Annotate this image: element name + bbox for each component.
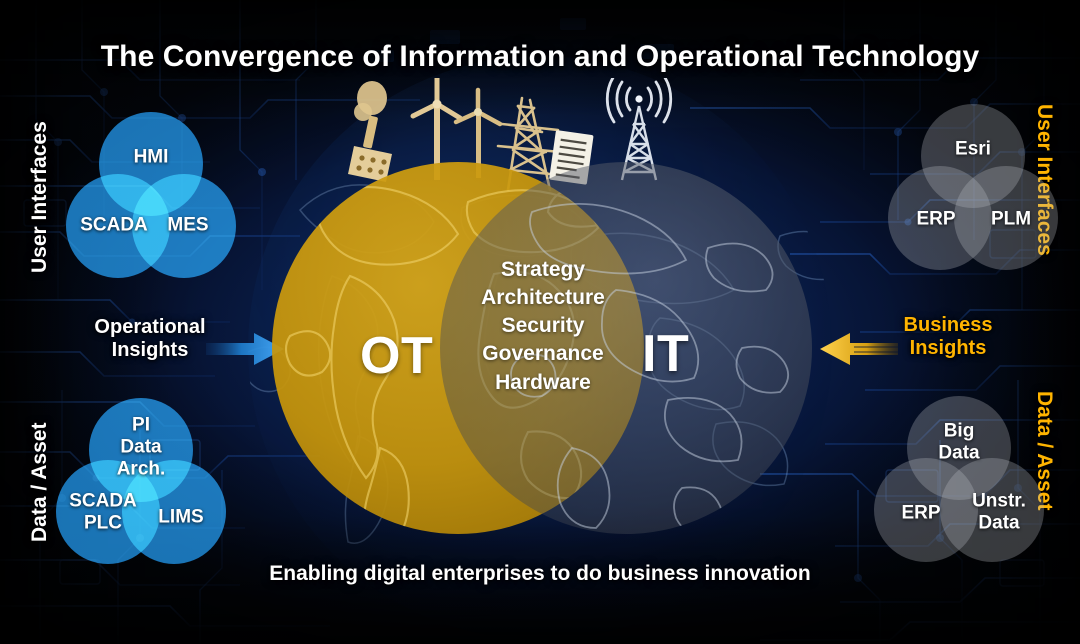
venn-cluster-ui-left: HMI SCADA MES bbox=[66, 112, 236, 278]
side-label-left-data-asset: Data / Asset bbox=[28, 423, 52, 542]
it-label: IT bbox=[642, 324, 689, 384]
footer-caption: Enabling digital enterprises to do busin… bbox=[0, 562, 1080, 586]
venn-circle-unstructured-data bbox=[940, 458, 1044, 562]
venn-circle-lims bbox=[122, 460, 226, 564]
overlap-item-security: Security bbox=[458, 312, 628, 340]
arrow-left-gold-icon bbox=[818, 330, 898, 368]
infographic-canvas: The Convergence of Information and Opera… bbox=[0, 0, 1080, 644]
overlap-item-hardware: Hardware bbox=[458, 369, 628, 397]
venn-overlap-items: Strategy Architecture Security Governanc… bbox=[458, 256, 628, 397]
venn-circle-plm bbox=[954, 166, 1058, 270]
overlap-item-strategy: Strategy bbox=[458, 256, 628, 284]
overlap-item-architecture: Architecture bbox=[458, 284, 628, 312]
page-title: The Convergence of Information and Opera… bbox=[0, 40, 1080, 74]
overlap-item-governance: Governance bbox=[458, 340, 628, 368]
venn-cluster-data-left: PI Data Arch. SCADA PLC LIMS bbox=[56, 398, 226, 564]
ot-label: OT bbox=[360, 326, 433, 386]
main-venn-diagram: OT IT Strategy Architecture Security Gov… bbox=[272, 148, 812, 548]
venn-cluster-ui-right: Esri ERP PLM bbox=[888, 104, 1058, 270]
venn-circle-mes bbox=[132, 174, 236, 278]
venn-cluster-data-right: Big Data ERP Unstr. Data bbox=[874, 396, 1044, 562]
side-label-left-user-interfaces: User Interfaces bbox=[28, 121, 52, 273]
